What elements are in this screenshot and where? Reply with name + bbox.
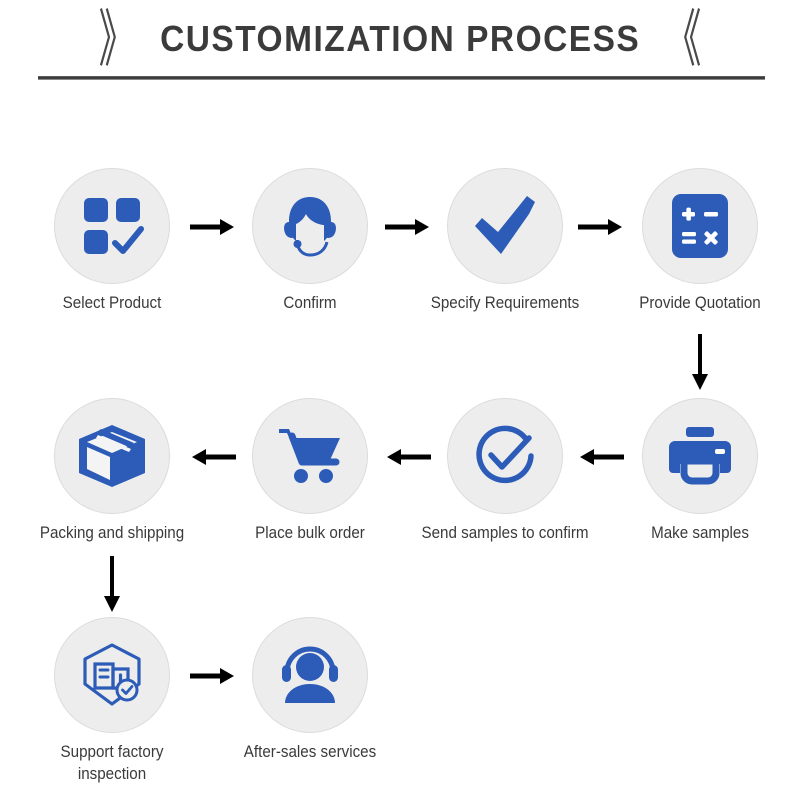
flow-step-after-sales-services[interactable]: After-sales services bbox=[215, 617, 405, 764]
chevron-right-decoration: 《 bbox=[665, 8, 702, 70]
step-label: Packing and shipping bbox=[25, 523, 200, 545]
printer-icon bbox=[667, 425, 733, 487]
circle-check-icon bbox=[471, 422, 539, 490]
step-icon-circle bbox=[252, 617, 368, 733]
step-label: Specify Requirements bbox=[418, 293, 593, 315]
step-label: Select Product bbox=[25, 293, 200, 315]
step-label: Send samples to confirm bbox=[418, 523, 593, 545]
step-icon-circle bbox=[642, 398, 758, 514]
step-icon-circle bbox=[447, 398, 563, 514]
shopping-cart-icon bbox=[276, 425, 344, 487]
step-label: After-sales services bbox=[223, 742, 398, 764]
chevron-left-decoration: 》 bbox=[98, 8, 135, 70]
step-icon-circle bbox=[54, 617, 170, 733]
step-icon-circle bbox=[642, 168, 758, 284]
connector-arrow-down-2 bbox=[101, 556, 123, 614]
headset-agent-icon bbox=[276, 192, 344, 260]
flow-step-specify-requirements[interactable]: Specify Requirements bbox=[410, 168, 600, 315]
step-icon-circle bbox=[447, 168, 563, 284]
flow-step-select-product[interactable]: Select Product bbox=[17, 168, 207, 315]
step-label: Support factory inspection bbox=[25, 742, 200, 786]
flow-step-packing-and-shipping[interactable]: Packing and shipping bbox=[17, 398, 207, 545]
flow-step-send-samples-to-confirm[interactable]: Send samples to confirm bbox=[410, 398, 600, 545]
page-title: CUSTOMIZATION PROCESS bbox=[160, 18, 640, 60]
connector-arrow-down-1 bbox=[689, 334, 711, 392]
step-icon-circle bbox=[54, 168, 170, 284]
step-icon-circle bbox=[54, 398, 170, 514]
step-label: Place bulk order bbox=[223, 523, 398, 545]
support-person-icon bbox=[277, 645, 343, 705]
checkmark-icon bbox=[471, 192, 539, 260]
step-label: Confirm bbox=[223, 293, 398, 315]
step-label: Provide Quotation bbox=[613, 293, 788, 315]
flow-step-confirm[interactable]: Confirm bbox=[215, 168, 405, 315]
flow-step-support-factory-inspection[interactable]: Support factory inspection bbox=[17, 617, 207, 786]
step-label: Make samples bbox=[613, 523, 788, 545]
title-divider bbox=[38, 76, 765, 80]
header: 》 CUSTOMIZATION PROCESS 《 bbox=[0, 0, 800, 92]
flow-step-make-samples[interactable]: Make samples bbox=[605, 398, 795, 545]
grid-check-icon bbox=[80, 194, 144, 258]
package-box-icon bbox=[77, 423, 147, 489]
flow-step-provide-quotation[interactable]: Provide Quotation bbox=[605, 168, 795, 315]
step-icon-circle bbox=[252, 168, 368, 284]
calculator-icon bbox=[669, 191, 731, 261]
step-icon-circle bbox=[252, 398, 368, 514]
factory-inspection-shield-icon bbox=[79, 642, 145, 708]
title-row: 》 CUSTOMIZATION PROCESS 《 bbox=[0, 8, 800, 70]
flow-step-place-bulk-order[interactable]: Place bulk order bbox=[215, 398, 405, 545]
